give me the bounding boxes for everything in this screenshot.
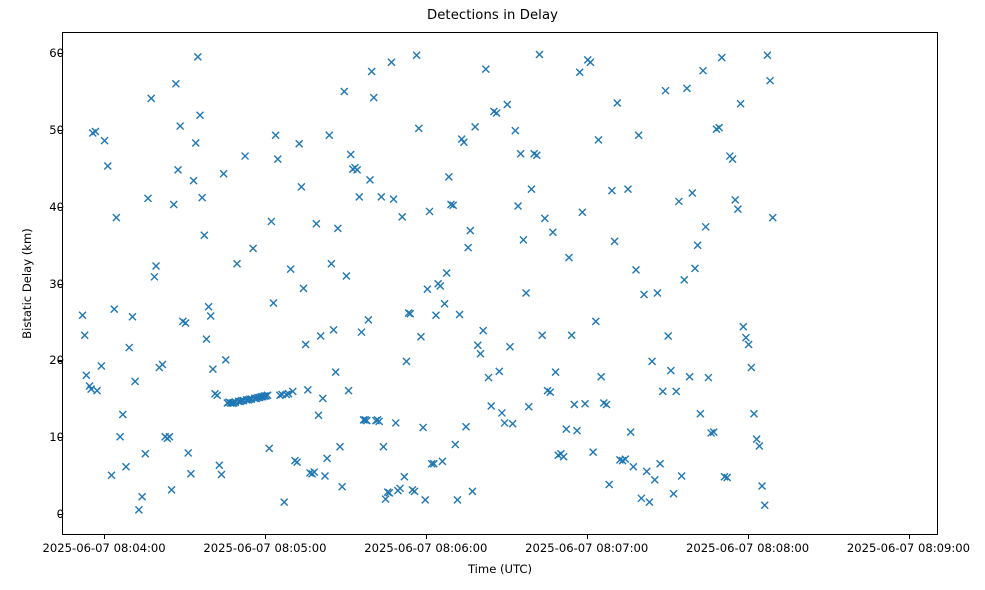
x-tick-mark <box>909 535 910 539</box>
x-tick-mark <box>748 535 749 539</box>
y-tick-label: 50 <box>49 123 64 137</box>
x-tick-mark <box>426 535 427 539</box>
x-tick-label: 2025-06-07 08:06:00 <box>364 541 487 555</box>
x-tick-mark <box>265 535 266 539</box>
x-tick-mark <box>587 535 588 539</box>
figure: Detections in Delay 2025-06-07 08:04:002… <box>0 0 985 590</box>
plot-area <box>62 32 938 535</box>
y-tick-label: 40 <box>49 200 64 214</box>
y-tick-label: 0 <box>57 507 64 521</box>
chart-title: Detections in Delay <box>0 8 985 23</box>
y-tick-label: 30 <box>49 277 64 291</box>
x-axis-label: Time (UTC) <box>62 562 938 576</box>
y-axis-label: Bistatic Delay (km) <box>20 32 38 535</box>
scatter-layer <box>63 33 938 535</box>
x-tick-label: 2025-06-07 08:07:00 <box>525 541 648 555</box>
x-tick-label: 2025-06-07 08:04:00 <box>43 541 166 555</box>
y-tick-label: 60 <box>49 46 64 60</box>
x-tick-label: 2025-06-07 08:08:00 <box>686 541 809 555</box>
y-tick-label: 10 <box>49 430 64 444</box>
x-tick-label: 2025-06-07 08:05:00 <box>203 541 326 555</box>
x-tick-mark <box>104 535 105 539</box>
x-tick-label: 2025-06-07 08:09:00 <box>847 541 970 555</box>
y-tick-label: 20 <box>49 353 64 367</box>
